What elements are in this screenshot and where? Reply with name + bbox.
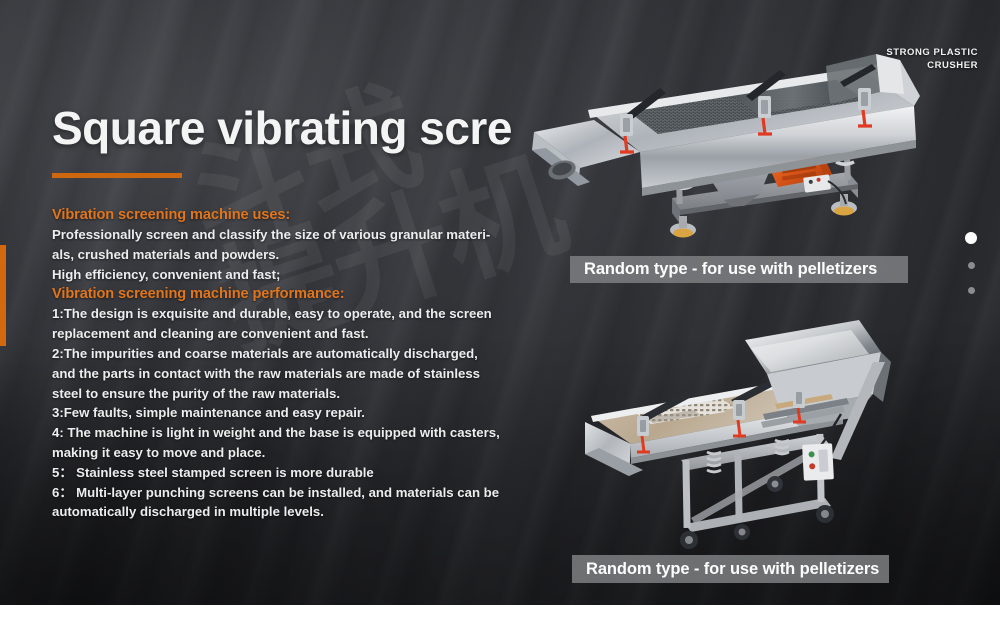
performance-line: 2:The impurities and coarse materials ar… (52, 344, 504, 364)
performance-line: 6： Multi-layer punching screens can be i… (52, 483, 504, 503)
brand-tag: STRONG PLASTIC CRUSHER (886, 46, 978, 72)
performance-line: automatically discharged in multiple lev… (52, 502, 504, 522)
performance-line: replacement and cleaning are convenient … (52, 324, 504, 344)
performance-line: steel to ensure the purity of the raw ma… (52, 384, 504, 404)
uses-line: Professionally screen and classify the s… (52, 225, 504, 245)
carousel-dot-2[interactable] (968, 262, 975, 269)
title-underline-rule (52, 173, 182, 178)
carousel-dot-3[interactable] (968, 287, 975, 294)
performance-line: 4: The machine is light in weight and th… (52, 423, 504, 443)
left-edge-accent-tab (0, 245, 6, 346)
banner-stage: 斗式 提升机 Square vibrating scre STRONG PLAS… (0, 0, 1000, 637)
photo-caption-top: Random type - for use with pelletizers (570, 256, 908, 283)
performance-section: Vibration screening machine performance:… (52, 284, 504, 522)
page-title: Square vibrating scre (52, 104, 612, 152)
uses-section: Vibration screening machine uses: Profes… (52, 205, 504, 284)
performance-line: 3:Few faults, simple maintenance and eas… (52, 403, 504, 423)
uses-line: als, crushed materials and powders. (52, 245, 504, 265)
uses-line: High efficiency, convenient and fast; (52, 265, 504, 285)
carousel-dot-1[interactable] (965, 232, 977, 244)
performance-line: and the parts in contact with the raw ma… (52, 364, 504, 384)
performance-line: 5： Stainless steel stamped screen is mor… (52, 463, 504, 483)
brand-tag-line-1: STRONG PLASTIC (886, 46, 978, 59)
hero-banner: 斗式 提升机 Square vibrating scre STRONG PLAS… (0, 0, 1000, 605)
performance-line: making it easy to move and place. (52, 443, 504, 463)
brand-tag-line-2: CRUSHER (886, 59, 978, 72)
photo-caption-bottom: Random type - for use with pelletizers (572, 555, 889, 583)
carousel-pagination[interactable] (965, 232, 977, 294)
description-copy: Vibration screening machine uses: Profes… (52, 205, 504, 522)
uses-heading: Vibration screening machine uses: (52, 205, 504, 225)
performance-heading: Vibration screening machine performance: (52, 284, 504, 304)
performance-line: 1:The design is exquisite and durable, e… (52, 304, 504, 324)
